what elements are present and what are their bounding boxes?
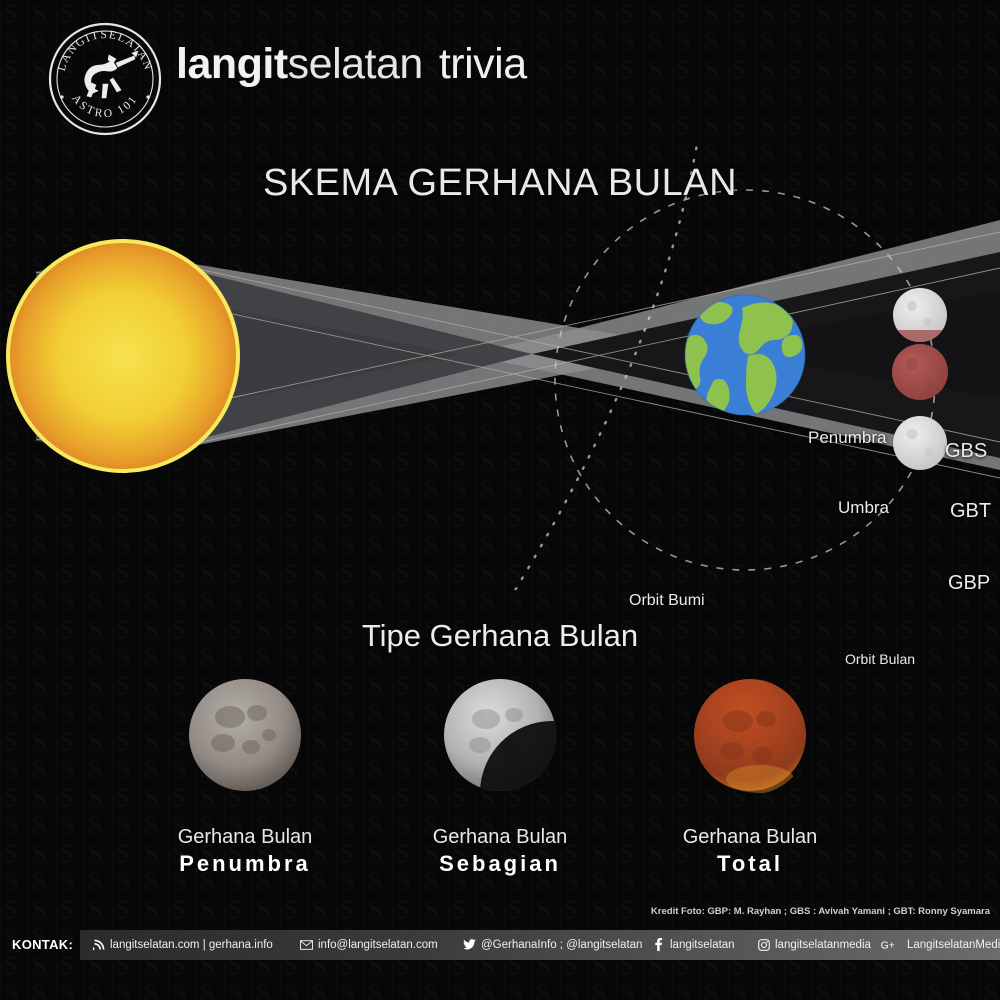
mail-icon [300,938,313,951]
eclipse-types-section: Tipe Gerhana Bulan [0,600,1000,900]
type-caption-line1: Gerhana Bulan [105,825,385,850]
footer-item-label: langitselatanmedia [775,939,871,951]
twitter-icon [463,938,476,951]
instagram-icon [757,938,770,951]
label-penumbra: Penumbra [808,428,886,448]
moon-partial-photo [440,675,560,795]
facebook-icon [652,938,665,951]
moon-gbt [892,344,948,400]
moon-penumbral-photo [185,675,305,795]
footer-item-twitter[interactable]: @GerhanaInfo ; @langitselatan [463,938,642,951]
type-caption-line1: Gerhana Bulan [610,825,890,850]
type-caption-line2: Penumbra [105,850,385,878]
type-card-penumbra: Gerhana Bulan Penumbra [105,675,385,878]
type-card-total: Gerhana Bulan Total [610,675,890,878]
type-caption-total: Gerhana Bulan Total [610,825,890,878]
footer-bottom-spacer [0,960,1000,1000]
footer-item-email[interactable]: info@langitselatan.com [300,938,438,951]
infographic-page: S LANGITSELATAN ASTRO 101 [0,0,1000,1000]
footer-item-label: langitselatan.com | gerhana.info [110,939,273,951]
eclipse-diagram-svg [0,140,1000,590]
type-caption-line2: Sebagian [360,850,640,878]
type-caption-penumbra: Gerhana Bulan Penumbra [105,825,385,878]
label-umbra: Umbra [838,498,889,518]
type-caption-line1: Gerhana Bulan [360,825,640,850]
header: LANGITSELATAN ASTRO 101 langitselatantri… [0,0,1000,140]
googleplus-icon: G+ [880,938,902,951]
footer-item-instagram[interactable]: langitselatanmedia [757,938,871,951]
footer-item-label: @GerhanaInfo ; @langitselatan [481,939,642,951]
kontak-label: KONTAK: [12,937,73,952]
langitselatan-logo-seal[interactable]: LANGITSELATAN ASTRO 101 [46,20,164,138]
wordmark-langit: langit [176,40,288,88]
footer-item-googleplus[interactable]: G+ LangitselatanMedia [880,938,1000,951]
photo-credit: Kredit Foto: GBP: M. Rayhan ; GBS : Aviv… [651,906,990,917]
brand-wordmark: langitselatantrivia [176,40,527,89]
type-card-sebagian: Gerhana Bulan Sebagian [360,675,640,878]
page-title: SKEMA GERHANA BULAN [0,162,1000,205]
type-caption-sebagian: Gerhana Bulan Sebagian [360,825,640,878]
rss-icon [92,938,105,951]
footer-item-label: LangitselatanMedia [907,939,1000,951]
footer-item-label: langitselatan [670,939,735,951]
wordmark-trivia: trivia [439,40,527,88]
types-title: Tipe Gerhana Bulan [0,618,1000,654]
sun-disc [7,240,239,472]
footer-item-facebook[interactable]: langitselatan [652,938,735,951]
svg-text:G+: G+ [881,940,895,951]
eclipse-diagram: SKEMA GERHANA BULAN Penumbra Umbra GBS G… [0,140,1000,590]
sagittarius-seal-icon [85,51,138,98]
label-gbp: GBP [948,572,990,595]
moon-total-photo [690,675,810,795]
label-gbt: GBT [950,500,991,523]
footer-item-website[interactable]: langitselatan.com | gerhana.info [92,938,273,951]
footer-item-label: info@langitselatan.com [318,939,438,951]
moon-gbp [893,416,947,470]
label-gbs: GBS [945,440,987,463]
footer-contact-bar: KONTAK: langitselatan.com | gerhana.info… [0,930,1000,960]
wordmark-selatan: selatan [288,40,423,88]
type-caption-line2: Total [610,850,890,878]
